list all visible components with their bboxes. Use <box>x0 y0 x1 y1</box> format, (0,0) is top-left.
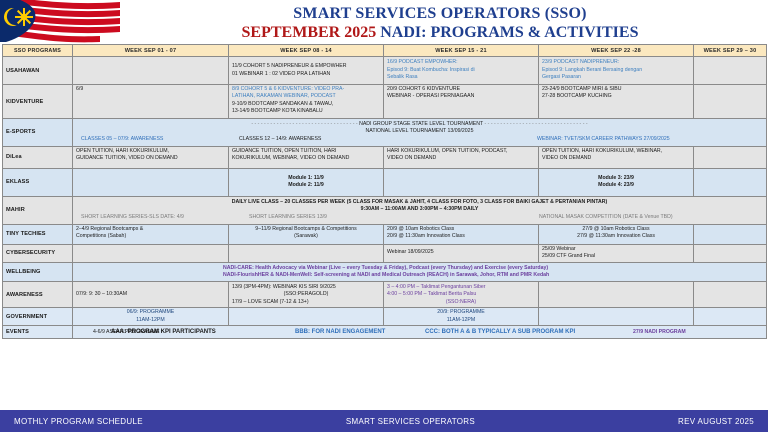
table-row-government: GOVERNMENT 06/9: PROGRAMME 11AM-12PM 20/… <box>3 308 767 326</box>
text: WEBINAR - OPERASI PERNIAGAAN <box>387 93 535 100</box>
text: 9-10/9 BOOTCAMP SANDAKAN & TAWAU, <box>232 101 380 108</box>
text: Episod 9: Buat Kombucha: Inspirasi di <box>387 67 535 74</box>
text: 8/9 COHORT 5 & 6 KIDVENTURE: VIDEO PRA- <box>232 86 380 93</box>
text: OPEN TUITION, HARI KOKURIKULUM, WEBINAR, <box>542 148 690 155</box>
row-label-mahir: MAHIR <box>3 196 73 224</box>
cell-dilea-w2: GUIDANCE TUITION, OPEN TUITION, HARI KOK… <box>229 146 384 168</box>
text: 27-28 BOOTCAMP KUCHING <box>542 93 690 100</box>
cell-dilea-w3: HARI KOKURIKULUM, OPEN TUITION, PODCAST,… <box>384 146 539 168</box>
cell-dilea-w1: OPEN TUITION, HARI KOKURIKULUM, GUIDANCE… <box>73 146 229 168</box>
table-row-usahawan: USAHAWAN 11/9 COHORT 5 NADIPRENEUR & EMP… <box>3 57 767 85</box>
esports-w2: CLASSES 12 – 14/9: AWARENESS <box>239 136 321 143</box>
esports-w1: CLASSES 05 – 07/9: AWARENESS <box>81 136 163 143</box>
page-title: SMART SERVICES OPERATORS (SSO) SEPTEMBER… <box>120 4 760 42</box>
mahir-w2: SHORT LEARNING SERIES 13/9 <box>249 214 327 221</box>
cell-kidventure-w5 <box>694 85 767 119</box>
footer-right: REV AUGUST 2025 <box>678 417 768 426</box>
row-label-government: GOVERNMENT <box>3 308 73 326</box>
text: Episod 9: Langkah Berani Bersaing dengan <box>542 67 690 74</box>
row-label-eklass: EKLASS <box>3 168 73 196</box>
row-label-usahawan: USAHAWAN <box>3 57 73 85</box>
text: 11/9 COHORT 5 NADIPRENEUR & EMPOWHER <box>232 63 380 70</box>
table-row-kidventure: KIDVENTURE 6/9 8/9 COHORT 5 & 6 KIDVENTU… <box>3 85 767 119</box>
text: Gergasi Pasaran <box>542 74 690 81</box>
text: LATIHAN, RAKAMAN WEBINAR, PODCAST <box>232 93 380 100</box>
text: 23-24/9 BOOTCAMP MIRI & SIBU <box>542 86 690 93</box>
col-header-week1: WEEK SEP 01 - 07 <box>73 45 229 57</box>
malaysia-flag-icon <box>0 0 120 46</box>
text: 2–4/9 Regional Bootcamps & <box>76 226 225 233</box>
title-line-2: SEPTEMBER 2025 NADI: PROGRAMS & ACTIVITI… <box>120 23 760 42</box>
text: Webinar 18/09/2025 <box>387 249 535 256</box>
text: 13/9 (3PM-4PM): WEBINAR KIS SIRI 9/2025 <box>232 284 380 291</box>
cell-cyber-w5 <box>694 244 767 262</box>
cell-cyber-w1 <box>73 244 229 262</box>
cell-tiny-w3: 20/9 @ 10am Robotics Class 20/9 @ 11:30a… <box>384 224 539 244</box>
cell-eklass-w1 <box>73 168 229 196</box>
table-row-eklass: EKLASS Module 1: 11/9 Module 2: 11/9 Mod… <box>3 168 767 196</box>
cell-tiny-w4: 27/9 @ 10am Robotics Class 27/9 @ 11:30a… <box>539 224 694 244</box>
text: KOKURIKULUM, WEBINAR, VIDEO ON DEMAND <box>232 155 380 162</box>
col-header-programs: SSO PROGRAMS <box>3 45 73 57</box>
cell-cyber-w2 <box>229 244 384 262</box>
col-header-week3: WEEK SEP 15 - 21 <box>384 45 539 57</box>
text: 23/9 PODCAST NADIPRENEUR: <box>542 59 690 66</box>
row-label-cybersecurity: CYBERSECURITY <box>3 244 73 262</box>
text: Module 4: 23/9 <box>542 182 690 189</box>
events-overlap-e: 27/9 NADI PROGRAM <box>633 328 686 337</box>
page-footer: MOTHLY PROGRAM SCHEDULE SMART SERVICES O… <box>0 410 768 432</box>
title-month: SEPTEMBER 2025 <box>242 24 377 41</box>
esports-banner-1: - - - - - - - - - - - - - - - - - - - - … <box>77 121 762 128</box>
text: (SSO:NERA) <box>387 299 535 306</box>
cell-awareness-w2: 13/9 (3PM-4PM): WEBINAR KIS SIRI 9/2025 … <box>229 282 384 308</box>
mahir-w4: NATIONAL MASAK COMPETITION (DATE & Venue… <box>539 214 673 221</box>
text: OPEN TUITION, HARI KOKURIKULUM, <box>76 148 225 155</box>
cell-gov-w2 <box>229 308 384 326</box>
text: 6/9 <box>76 86 225 93</box>
cell-esports-span: - - - - - - - - - - - - - - - - - - - - … <box>73 119 767 147</box>
footer-left: MOTHLY PROGRAM SCHEDULE <box>0 417 143 426</box>
text: 20/9: PROGRAMME <box>387 309 535 316</box>
cell-kidventure-w1: 6/9 <box>73 85 229 119</box>
text: Module 1: 11/9 <box>232 175 380 182</box>
cell-cyber-w3: Webinar 18/09/2025 <box>384 244 539 262</box>
table-row-dilea: DiLea OPEN TUITION, HARI KOKURIKULUM, GU… <box>3 146 767 168</box>
col-header-week2: WEEK SEP 08 - 14 <box>229 45 384 57</box>
cell-kidventure-w3: 20/9 COHORT 6 KIDVENTURE WEBINAR - OPERA… <box>384 85 539 119</box>
text: 13-14/9 BOOTCAMP KOTA KINABALU <box>232 108 380 115</box>
text: NADI GROUP STAGE STATE LEVEL TOURNAMENT <box>359 121 483 127</box>
text: 25/09 Webinar <box>542 246 690 253</box>
col-header-week4: WEEK SEP 22 -28 <box>539 45 694 57</box>
table-row-events: EVENTS 4-6/9 ASEAN PROGRAMME AAA: PROGRA… <box>3 326 767 339</box>
text: Module 3: 23/9 <box>542 175 690 182</box>
table-row-tiny-techies: TINY TECHIES 2–4/9 Regional Bootcamps & … <box>3 224 767 244</box>
cell-gov-w5 <box>694 308 767 326</box>
text: GUIDANCE TUITION, VIDEO ON DEMAND <box>76 155 225 162</box>
text: (Sarawak) <box>232 233 380 240</box>
text: 07/9: 9: 30 – 10:30AM <box>76 291 225 298</box>
text: 20/9 COHORT 6 KIDVENTURE <box>387 86 535 93</box>
text: Module 2: 11/9 <box>232 182 380 189</box>
text: 27/9 @ 10am Robotics Class <box>542 226 690 233</box>
text: (SSO:PERAGOLD) <box>232 291 380 298</box>
cell-kidventure-w4: 23-24/9 BOOTCAMP MIRI & SIBU 27-28 BOOTC… <box>539 85 694 119</box>
text: 06/9: PROGRAMME <box>76 309 225 316</box>
cell-gov-w1: 06/9: PROGRAMME 11AM-12PM <box>73 308 229 326</box>
row-label-wellbeing: WELLBEING <box>3 262 73 282</box>
cell-usahawan-w2: 11/9 COHORT 5 NADIPRENEUR & EMPOWHER 01 … <box>229 57 384 85</box>
esports-w4: WEBINAR: TVET/SKM CAREER PATHWAYS 27/09/… <box>537 136 670 143</box>
text: 01 WEBINAR 1 : 02 VIDEO PRA LATIHAN <box>232 71 380 78</box>
cell-usahawan-w1 <box>73 57 229 85</box>
cell-usahawan-w3: 16/9 PODCAST EMPOWHER: Episod 9: Buat Ko… <box>384 57 539 85</box>
text: VIDEO ON DEMAND <box>542 155 690 162</box>
col-header-week5: WEEK SEP 29 – 30 <box>694 45 767 57</box>
title-line-1: SMART SERVICES OPERATORS (SSO) <box>120 4 760 23</box>
text: VIDEO ON DEMAND <box>387 155 535 162</box>
cell-tiny-w5 <box>694 224 767 244</box>
events-overlap-b: AAA: PROGRAM KPI PARTICIPANTS <box>111 328 216 337</box>
table-row-awareness: AWARENESS 07/9: 9: 30 – 10:30AM 13/9 (3P… <box>3 282 767 308</box>
mahir-banner-2: 9:30AM – 11:00AM AND 3:00PM – 4:30PM DAI… <box>77 206 762 213</box>
schedule-page: SMART SERVICES OPERATORS (SSO) SEPTEMBER… <box>0 0 768 432</box>
footer-center: SMART SERVICES OPERATORS <box>143 417 678 426</box>
cell-eklass-w4: Module 3: 23/9 Module 4: 23/9 <box>539 168 694 196</box>
cell-awareness-w1: 07/9: 9: 30 – 10:30AM <box>73 282 229 308</box>
row-label-kidventure: KIDVENTURE <box>3 85 73 119</box>
row-label-events: EVENTS <box>3 326 73 339</box>
mahir-banner-1: DAILY LIVE CLASS – 20 CLASSES PER WEEK (… <box>77 199 762 206</box>
cell-awareness-w4 <box>539 282 694 308</box>
mahir-w1: SHORT LEARNING SERIES-SLS DATE: 4/9 <box>81 214 184 221</box>
table-row-mahir: MAHIR DAILY LIVE CLASS – 20 CLASSES PER … <box>3 196 767 224</box>
cell-eklass-w2: Module 1: 11/9 Module 2: 11/9 <box>229 168 384 196</box>
events-overlap-c: BBB: FOR NADI ENGAGEMENT <box>295 328 385 337</box>
text: GUIDANCE TUITION, OPEN TUITION, HARI <box>232 148 380 155</box>
cell-dilea-w4: OPEN TUITION, HARI KOKURIKULUM, WEBINAR,… <box>539 146 694 168</box>
text: 20/9 @ 10am Robotics Class <box>387 226 535 233</box>
cell-mahir-span: DAILY LIVE CLASS – 20 CLASSES PER WEEK (… <box>73 196 767 224</box>
cell-wellbeing-span: NADI-CARE: Health Advocacy via Webinar (… <box>73 262 767 282</box>
row-label-esports: E-SPORTS <box>3 119 73 147</box>
events-overlap-d: CCC: BOTH A & B TYPICALLY A SUB PROGRAM … <box>425 328 575 337</box>
esports-banner-2: NATIONAL LEVEL TOURNAMENT 13/09/2025 <box>77 128 762 135</box>
cell-events-span: 4-6/9 ASEAN PROGRAMME AAA: PROGRAM KPI P… <box>73 326 767 339</box>
cell-gov-w4 <box>539 308 694 326</box>
text: 11AM-12PM <box>76 317 225 324</box>
text: 4:00 – 5:00 PM – Taklimat Berita Palsu <box>387 291 535 298</box>
title-subject: NADI: PROGRAMS & ACTIVITIES <box>380 24 638 41</box>
cell-tiny-w1: 2–4/9 Regional Bootcamps & Competitions … <box>73 224 229 244</box>
cell-eklass-w3 <box>384 168 539 196</box>
text: 11AM-12PM <box>387 317 535 324</box>
row-label-awareness: AWARENESS <box>3 282 73 308</box>
text: 27/9 @ 11:30am Innovation Class <box>542 233 690 240</box>
table-row-cybersecurity: CYBERSECURITY Webinar 18/09/2025 25/09 W… <box>3 244 767 262</box>
text: 17/9 – LOVE SCAM (7-12 & 13+) <box>232 299 380 306</box>
wellbeing-line-2: NADI-FlourishHER & NADI-MenWell: Self-sc… <box>223 272 762 279</box>
cell-kidventure-w2: 8/9 COHORT 5 & 6 KIDVENTURE: VIDEO PRA- … <box>229 85 384 119</box>
cell-awareness-w3: 3 – 4:00 PM – Taklimat Pengantunan Siber… <box>384 282 539 308</box>
cell-awareness-w5 <box>694 282 767 308</box>
row-label-tiny-techies: TINY TECHIES <box>3 224 73 244</box>
cell-gov-w3: 20/9: PROGRAMME 11AM-12PM <box>384 308 539 326</box>
text: 3 – 4:00 PM – Taklimat Pengantunan Siber <box>387 284 535 291</box>
cell-tiny-w2: 9–11/9 Regional Bootcamps & Competitions… <box>229 224 384 244</box>
cell-cyber-w4: 25/09 Webinar 25/09 CTF Grand Final <box>539 244 694 262</box>
text: Competitions (Sabah) <box>76 233 225 240</box>
cell-dilea-w5 <box>694 146 767 168</box>
text: HARI KOKURIKULUM, OPEN TUITION, PODCAST, <box>387 148 535 155</box>
cell-usahawan-w5 <box>694 57 767 85</box>
schedule-table: SSO PROGRAMS WEEK SEP 01 - 07 WEEK SEP 0… <box>2 44 767 339</box>
text: Sebalik Rasa <box>387 74 535 81</box>
table-row-wellbeing: WELLBEING NADI-CARE: Health Advocacy via… <box>3 262 767 282</box>
wellbeing-line-1: NADI-CARE: Health Advocacy via Webinar (… <box>223 265 762 272</box>
row-label-dilea: DiLea <box>3 146 73 168</box>
cell-eklass-w5 <box>694 168 767 196</box>
text: 9–11/9 Regional Bootcamps & Competitions <box>232 226 380 233</box>
text: 20/9 @ 11:30am Innovation Class <box>387 233 535 240</box>
cell-usahawan-w4: 23/9 PODCAST NADIPRENEUR: Episod 9: Lang… <box>539 57 694 85</box>
table-row-esports: E-SPORTS - - - - - - - - - - - - - - - -… <box>3 119 767 147</box>
text: 16/9 PODCAST EMPOWHER: <box>387 59 535 66</box>
table-header-row: SSO PROGRAMS WEEK SEP 01 - 07 WEEK SEP 0… <box>3 45 767 57</box>
text: 25/09 CTF Grand Final <box>542 253 690 260</box>
